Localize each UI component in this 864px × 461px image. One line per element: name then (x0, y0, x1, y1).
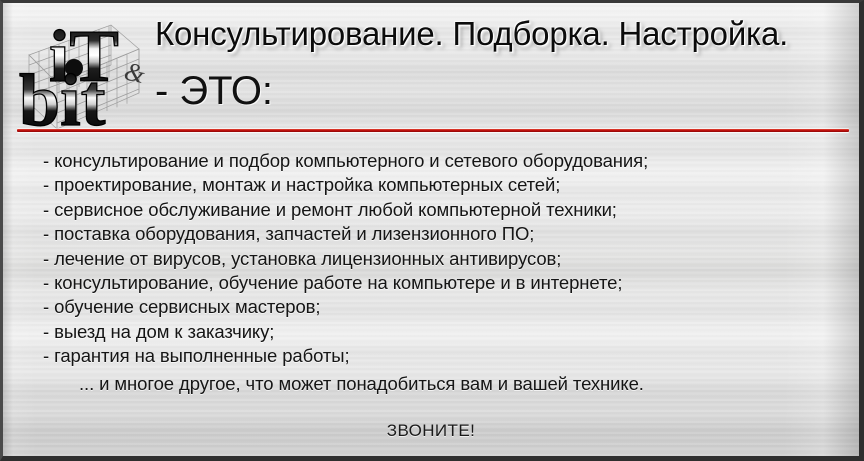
services-list: - консультирование и подбор компьютерног… (43, 149, 843, 396)
list-item: - поставка оборудования, запчастей и лиз… (43, 222, 843, 246)
list-item: - обучение сервисных мастеров; (43, 295, 843, 319)
advertisement-banner: & iT bit Консультирование. Подборка. Нас… (0, 0, 864, 461)
red-divider-line (17, 129, 849, 132)
list-item: - проектирование, монтаж и настройка ком… (43, 173, 843, 197)
subheadline-text: - ЭТО: (155, 71, 273, 111)
call-to-action-text: ЗВОНИТЕ! (3, 421, 859, 441)
it-bit-logo: & iT bit (11, 7, 157, 133)
logo-bit-text: bit (19, 60, 106, 133)
list-item: - гарантия на выполненные работы; (43, 344, 843, 368)
list-item: - консультирование и подбор компьютерног… (43, 149, 843, 173)
ampersand-glyph: & (122, 57, 149, 90)
list-item: - сервисное обслуживание и ремонт любой … (43, 198, 843, 222)
services-footnote: ... и многое другое, что может понадобит… (43, 369, 843, 396)
list-item: - консультирование, обучение работе на к… (43, 271, 843, 295)
svg-text:bit: bit (19, 60, 106, 133)
list-item: - лечение от вирусов, установка лицензио… (43, 247, 843, 271)
headline-text: Консультирование. Подборка. Настройка. (155, 17, 788, 50)
list-item: - выезд на дом к заказчику; (43, 320, 843, 344)
